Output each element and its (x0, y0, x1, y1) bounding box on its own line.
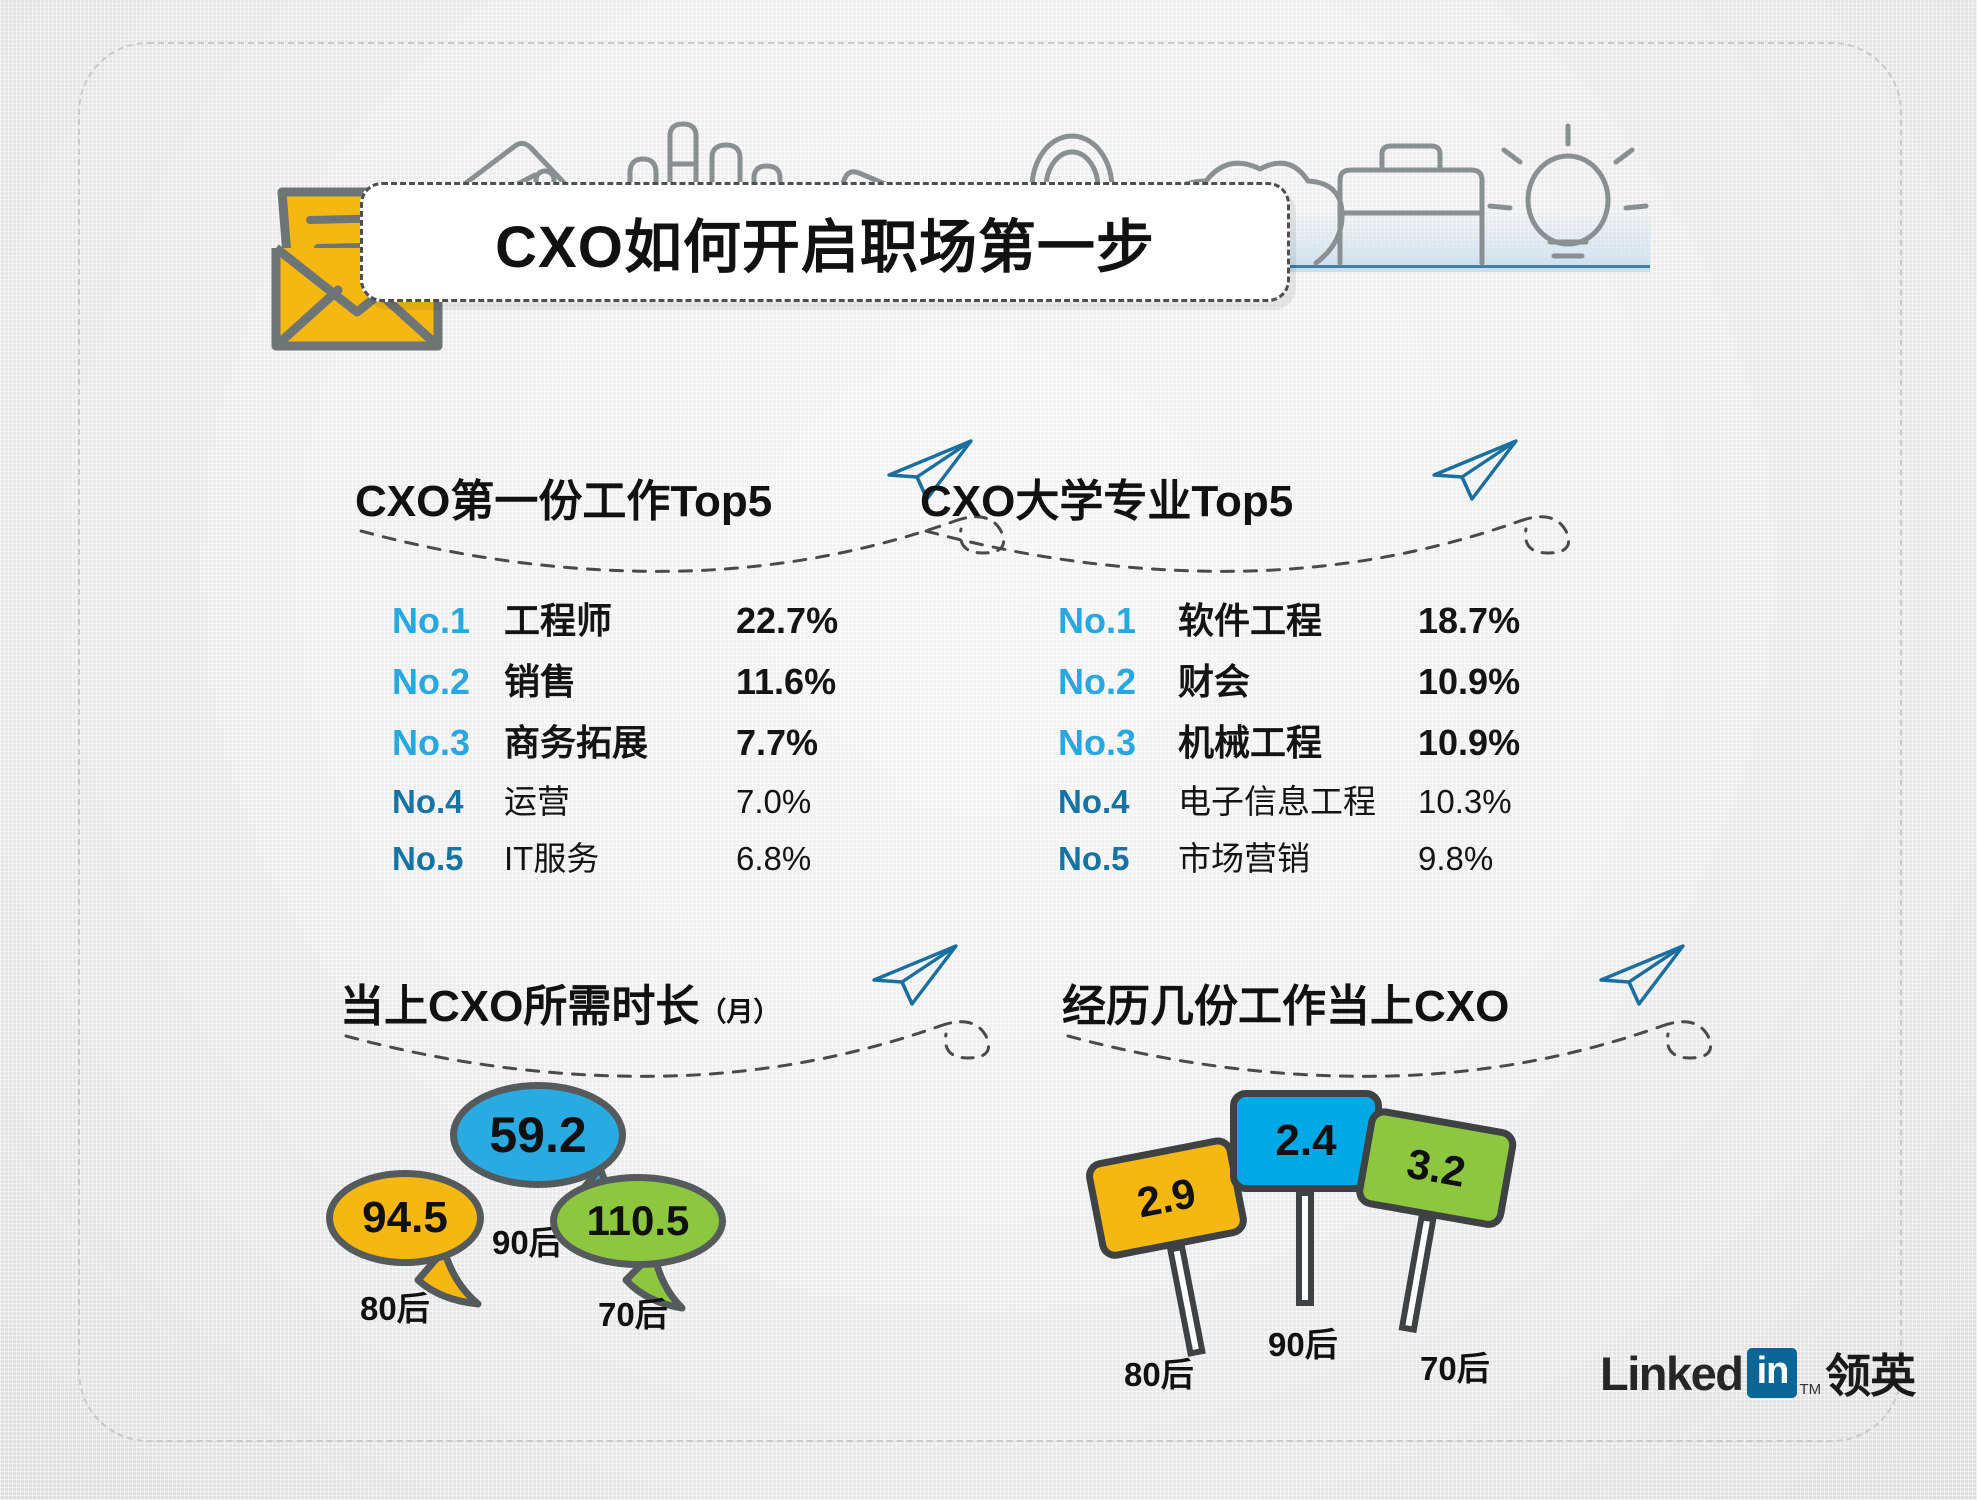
section-heading-major: CXO大学专业Top5 (920, 465, 1293, 529)
rank-label: No.3 (1058, 722, 1178, 764)
sign-label: 2.9 (1133, 1169, 1199, 1227)
sign-label: 2.4 (1275, 1116, 1336, 1166)
paper-plane-icon (860, 940, 965, 1010)
squiggle-divider (1062, 1014, 1722, 1090)
bubble-value-70: 110.5 (550, 1174, 726, 1268)
paper-plane-icon (1420, 435, 1525, 505)
rank-name: 市场营销 (1178, 832, 1418, 880)
bubble-label: 94.5 (362, 1193, 448, 1243)
rank-percent: 6.8% (736, 840, 811, 878)
list-first-job: No.1 工程师 22.7% No.2 销售 11.6% No.3 商务拓展 7… (392, 592, 838, 889)
bubble-value-90: 59.2 (450, 1082, 626, 1188)
list-item: No.5 市场营销 9.8% (1058, 832, 1520, 880)
gen-label-80: 80后 (1124, 1348, 1194, 1396)
linkedin-chinese-name: 领英 (1825, 1340, 1915, 1406)
sign-label: 3.2 (1403, 1139, 1469, 1196)
rank-percent: 11.6% (736, 661, 836, 703)
title-banner: CXO如何开启职场第一步 (360, 182, 1290, 302)
squiggle-divider (340, 1014, 1000, 1090)
list-item: No.1 工程师 22.7% (392, 592, 838, 644)
rank-label: No.4 (392, 783, 504, 821)
bubble-label: 110.5 (587, 1197, 690, 1245)
rank-name: 财会 (1178, 653, 1418, 705)
rank-percent: 18.7% (1418, 600, 1520, 642)
rank-name: 运营 (504, 775, 736, 823)
rank-percent: 7.0% (736, 783, 811, 821)
page-title: CXO如何开启职场第一步 (495, 200, 1155, 284)
list-item: No.4 运营 7.0% (392, 775, 838, 823)
rank-label: No.2 (1058, 661, 1178, 703)
rank-name: IT服务 (504, 832, 736, 880)
section-heading-jobs-to-cxo: 经历几份工作当上CXO (1062, 970, 1509, 1034)
squiggle-divider (355, 509, 1015, 585)
rank-name: 销售 (504, 653, 736, 705)
rank-name: 机械工程 (1178, 714, 1418, 766)
sign-plate: 3.2 (1354, 1106, 1519, 1231)
chart-jobs-to-cxo: 2.9 80后 2.4 90后 3.2 70后 (1060, 1090, 1620, 1370)
list-major: No.1 软件工程 18.7% No.2 财会 10.9% No.3 机械工程 … (1058, 592, 1520, 889)
rank-label: No.1 (1058, 600, 1178, 642)
rank-percent: 7.7% (736, 722, 818, 764)
linkedin-wordmark: Linked (1600, 1346, 1742, 1401)
rank-percent: 10.9% (1418, 722, 1520, 764)
list-item: No.2 财会 10.9% (1058, 653, 1520, 705)
rank-percent: 10.9% (1418, 661, 1520, 703)
gen-label-90: 90后 (1268, 1318, 1338, 1366)
bubble-value-80: 94.5 (326, 1170, 484, 1266)
gen-label-70: 70后 (1420, 1342, 1490, 1390)
list-item: No.4 电子信息工程 10.3% (1058, 775, 1520, 823)
rank-label: No.4 (1058, 783, 1178, 821)
bubble-label: 59.2 (489, 1106, 586, 1164)
section-heading-time-to-cxo: 当上CXO所需时长（月） (340, 970, 780, 1034)
paper-plane-icon (1587, 940, 1692, 1010)
rank-name: 工程师 (504, 592, 736, 644)
gen-label-70: 70后 (598, 1288, 668, 1336)
rank-label: No.2 (392, 661, 504, 703)
list-item: No.3 机械工程 10.9% (1058, 714, 1520, 766)
rank-label: No.3 (392, 722, 504, 764)
list-item: No.5 IT服务 6.8% (392, 832, 838, 880)
list-item: No.2 销售 11.6% (392, 653, 838, 705)
trademark-mark: TM (1799, 1381, 1821, 1398)
gen-label-80: 80后 (360, 1282, 430, 1330)
linkedin-logo: Linked in TM 领英 (1600, 1340, 1915, 1406)
sign-post-pole (1296, 1190, 1314, 1306)
rank-name: 商务拓展 (504, 714, 736, 766)
section-heading-first-job: CXO第一份工作Top5 (355, 465, 772, 529)
rank-name: 软件工程 (1178, 592, 1418, 644)
rank-percent: 10.3% (1418, 783, 1512, 821)
rank-percent: 9.8% (1418, 840, 1493, 878)
list-item: No.3 商务拓展 7.7% (392, 714, 838, 766)
rank-label: No.5 (1058, 840, 1178, 878)
squiggle-divider (920, 509, 1580, 585)
rank-label: No.1 (392, 600, 504, 642)
rank-label: No.5 (392, 840, 504, 878)
list-item: No.1 软件工程 18.7% (1058, 592, 1520, 644)
linkedin-in-icon: in (1747, 1348, 1797, 1398)
rank-name: 电子信息工程 (1178, 775, 1418, 823)
chart-time-to-cxo: 59.2 90后 94.5 80后 110.5 70后 (340, 1090, 900, 1370)
sign-post-pole (1167, 1244, 1206, 1357)
sign-post-pole (1399, 1214, 1437, 1333)
rank-percent: 22.7% (736, 600, 838, 642)
sign-plate: 2.9 (1083, 1135, 1249, 1262)
